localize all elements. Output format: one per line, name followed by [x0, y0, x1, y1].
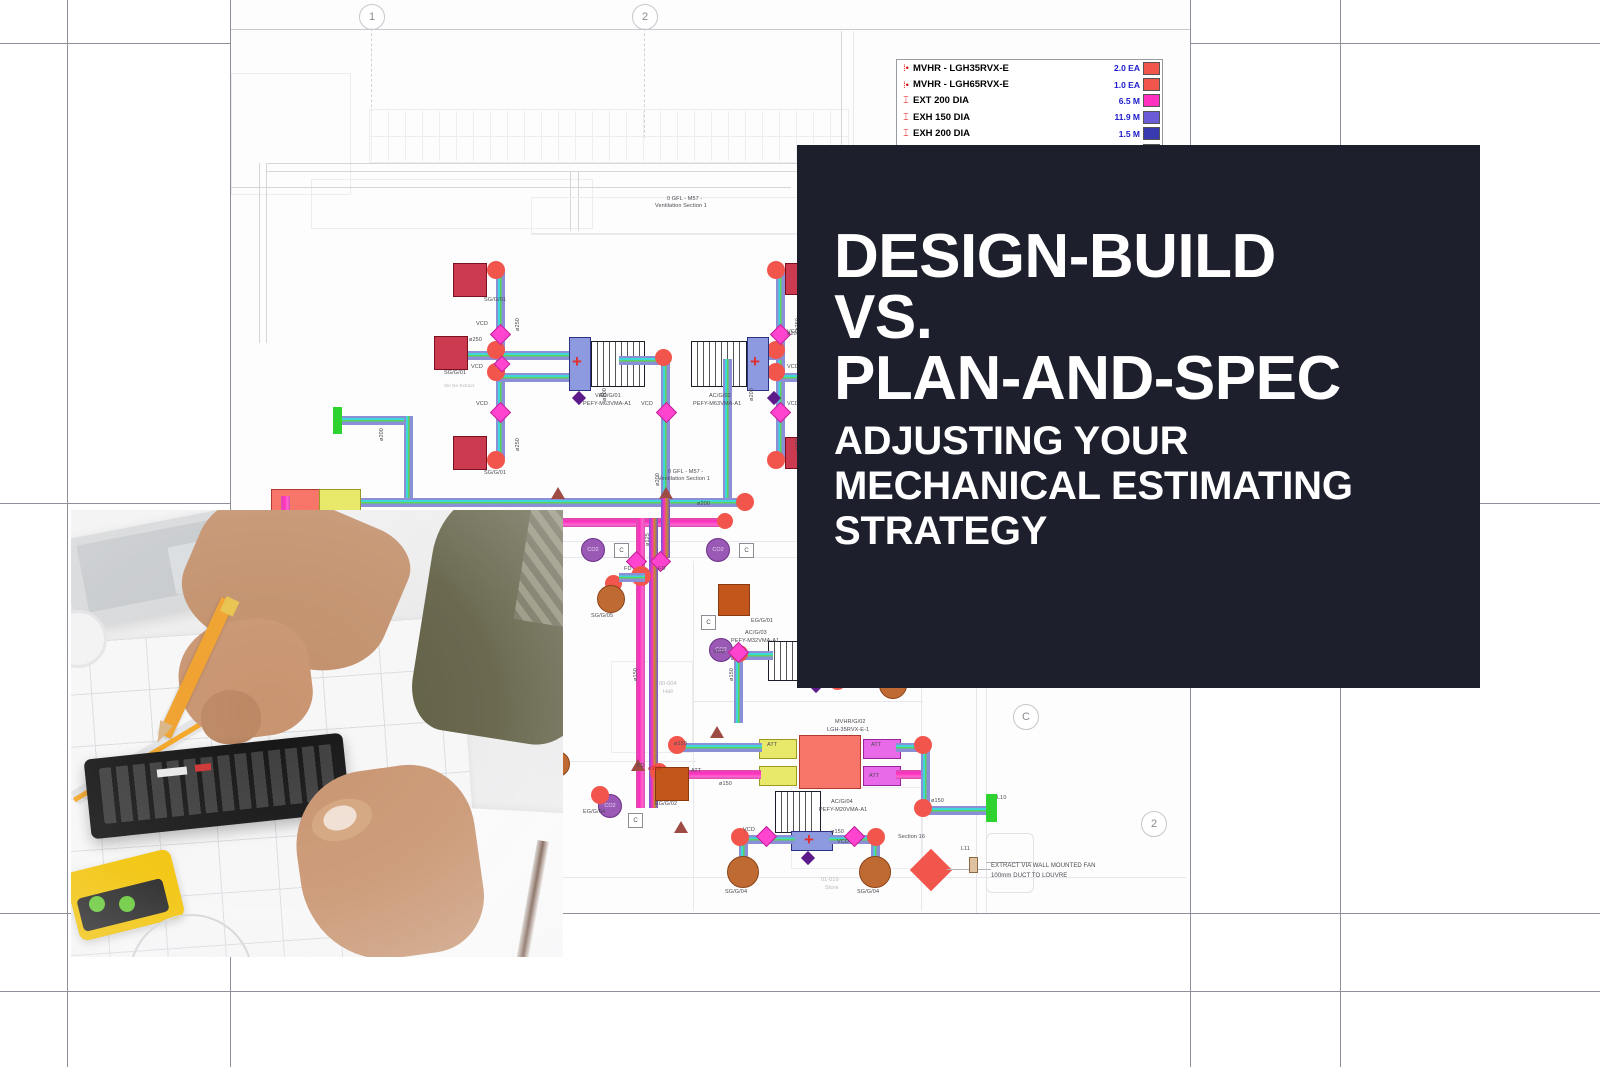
duct-riser [661, 356, 670, 506]
room-label: 01-019 [821, 877, 839, 884]
damper-label: VCD [471, 364, 483, 371]
damper-label: ATT [691, 768, 701, 775]
damper-label: FD [624, 566, 632, 573]
volume-control-damper [656, 402, 677, 423]
attenuator [759, 739, 797, 759]
legend-color-swatch [1143, 127, 1160, 140]
equipment-label: PEFY-M63VMA-A1 [693, 401, 741, 408]
damper-label: VCD [476, 321, 488, 328]
wall-line [266, 171, 846, 172]
duct-fitting [487, 451, 505, 469]
damper-label: ATT [869, 773, 879, 780]
equipment-label: EG/G/01 [751, 618, 773, 625]
stair-hatch [371, 111, 847, 161]
legend-item-name: MVHR - LGH35RVX-E [913, 63, 1114, 74]
equipment-label: AC/G/03 [745, 630, 767, 637]
duct-fitting [767, 261, 785, 279]
duct-fitting [767, 341, 785, 359]
legend-color-swatch [1143, 111, 1160, 124]
legend-color-swatch [1143, 78, 1160, 91]
damper-label: VCD [837, 839, 849, 846]
damper-label: FD [658, 566, 666, 573]
mvhr-node-icon: ⁞• [899, 80, 913, 90]
controller-box: C [739, 543, 754, 558]
damper-label: VCD [743, 827, 755, 834]
controller-box: C [628, 813, 643, 828]
duct-run-icon: ⌶ [899, 128, 913, 139]
duct-size-label: ø125 [645, 533, 652, 546]
duct-fitting [736, 493, 754, 511]
equipment-label: EG/G/04 [583, 809, 605, 816]
duct-fitting [767, 451, 785, 469]
ahu-plus-icon: + [804, 831, 814, 848]
section-marker-text: Ventilation Section 1 [655, 203, 707, 210]
equipment-label: LGH-35RVX-E-1 [827, 727, 869, 734]
grid-bubble-2: 2 [632, 4, 658, 30]
attenuator [759, 766, 797, 786]
room-label: Hall [663, 689, 673, 696]
duct-size-label: ø150 [719, 781, 732, 788]
wall-line [266, 163, 846, 164]
legend-item-qty: 2.0 EA [1114, 63, 1140, 73]
equipment-label: PEFY-M20VMA-A1 [819, 807, 867, 814]
wall-line [693, 561, 694, 911]
equipment-label: PEFY-M32VMA-A1 [731, 638, 779, 645]
legend-row[interactable]: ⌶ EXT 200 DIA 6.5 M [897, 93, 1162, 109]
co2-sensor: CO2 [581, 538, 605, 562]
photo-estimator-with-calculator [71, 510, 563, 957]
room-label: Store [825, 885, 839, 892]
duct-size-label: ø150 [633, 668, 640, 681]
duct-size-label: ø150 [831, 829, 844, 836]
legend-item-qty: 6.5 M [1119, 96, 1140, 106]
duct-riser [723, 359, 732, 507]
heat-exchanger-coil [691, 341, 747, 387]
grid-bubble-c: C [1013, 704, 1039, 730]
duct-size-label: ø200 [697, 501, 710, 508]
equipment-label: EG/G/02 [655, 801, 677, 808]
equipment-label: SG/G/01 [484, 470, 506, 477]
section-marker-text: 0 GFL - M57 - [668, 469, 703, 476]
extract-grille [718, 584, 750, 616]
section-marker-text: Section 16 [898, 834, 925, 841]
duct-branch [496, 373, 571, 382]
equipment-label: SG/G/01 [444, 370, 466, 377]
duct-size-label: ø200 [655, 473, 662, 486]
legend-item-qty: 1.0 EA [1114, 80, 1140, 90]
wall-line [693, 701, 923, 702]
duct-main-trunk [331, 498, 751, 507]
heading-line-2: VS. [834, 288, 1460, 349]
grid-bubble-2b: 2 [1141, 811, 1167, 837]
damper-label: ATT [871, 742, 881, 749]
arch-outline [231, 73, 351, 195]
heading-line-1: DESIGN-BUILD [834, 227, 1460, 288]
title-panel: DESIGN-BUILD VS. PLAN-AND-SPEC ADJUSTING… [797, 145, 1480, 688]
equipment-label: PEFY-M63VMA-A1 [583, 401, 631, 408]
subheading-line-1: ADJUSTING YOUR [834, 419, 1460, 464]
equipment-label: AC/G/02 [709, 393, 731, 400]
section-marker-text: 0 GFL - M57 - [667, 196, 702, 203]
fire-damper-marker [674, 821, 688, 833]
heading-line-3: PLAN-AND-SPEC [834, 349, 1460, 410]
legend-row[interactable]: ⁞• MVHR - LGH65RVX-E 1.0 EA [897, 76, 1162, 92]
room-label: 00-004 [659, 681, 677, 688]
mvhr-unit [799, 735, 861, 789]
equipment-label: L10 [997, 795, 1006, 802]
supply-grille [453, 436, 487, 470]
duct-fitting [767, 363, 785, 381]
duct-size-label: ø200 [379, 428, 386, 441]
supply-grille [453, 263, 487, 297]
louvre [333, 407, 342, 434]
duct-size-label: ø250 [515, 318, 522, 331]
duct-size-label: ø250 [515, 438, 522, 451]
duct-run-icon: ⌶ [899, 112, 913, 123]
damper-label: VCD [595, 393, 607, 400]
duct-branch [339, 416, 411, 425]
mvhr-node-icon: ⁞• [899, 63, 913, 73]
grid-line-vertical [67, 0, 68, 1067]
legend-color-swatch [1143, 94, 1160, 107]
co2-sensor: CO2 [706, 538, 730, 562]
duct-size-label: ø150 [931, 798, 944, 805]
fire-damper-marker [551, 487, 565, 499]
room-label: Sle De Extract [444, 383, 474, 389]
duct-run-icon: ⌶ [899, 95, 913, 106]
subheading-line-3: STRATEGY [834, 509, 1460, 554]
equipment-label: SG/G/01 [484, 297, 506, 304]
attenuator [319, 489, 361, 511]
legend-item-name: EXH 200 DIA [913, 128, 1119, 139]
ahu-plus-icon: + [750, 353, 760, 370]
legend-item-name: MVHR - LGH65RVX-E [913, 79, 1114, 90]
duct-size-label: ø250 [469, 337, 482, 344]
controller-box: C [614, 543, 629, 558]
duct-size-label: ø150 [729, 668, 736, 681]
duct-branch [496, 351, 571, 360]
legend-item-qty: 11.9 M [1114, 112, 1140, 122]
legend-item-name: EXT 200 DIA [913, 95, 1119, 106]
duct-fitting [914, 799, 932, 817]
drawing-note: EXTRACT VIA WALL MOUNTED FAN [991, 863, 1096, 871]
legend-row[interactable]: ⌶ EXH 150 DIA 11.9 M [897, 109, 1162, 125]
photo-vignette [71, 510, 563, 957]
equipment-label: L11 [961, 846, 970, 853]
wall-fan [969, 857, 978, 873]
legend-row[interactable]: ⌶ EXH 200 DIA 1.5 M [897, 126, 1162, 142]
heat-exchanger-coil [775, 791, 821, 833]
ahu-plus-icon: + [572, 353, 582, 370]
wall-line [231, 187, 791, 188]
duct-fitting [914, 736, 932, 754]
duct-fitting [717, 513, 733, 529]
louvre [986, 794, 997, 822]
supply-grille-round [597, 585, 625, 613]
equipment-label: MVHR/G/02 [835, 719, 866, 726]
equipment-label: SG/G/04 [857, 889, 879, 896]
supply-grille-round [859, 856, 891, 888]
legend-item-qty: 1.5 M [1119, 129, 1140, 139]
damper-label: VCD [641, 401, 653, 408]
damper-label: FD [637, 763, 645, 770]
legend-row[interactable]: ⁞• MVHR - LGH35RVX-E 2.0 EA [897, 60, 1162, 76]
duct-size-label: ø150 [648, 766, 661, 773]
legend-item-name: EXH 150 DIA [913, 112, 1114, 123]
duct-fitting [487, 261, 505, 279]
duct-fitting [867, 828, 885, 846]
grid-line-horizontal [0, 991, 1600, 992]
controller-box: C [701, 615, 716, 630]
supply-grille [434, 336, 468, 370]
extract-branch [896, 770, 924, 779]
duct-size-label: ø200 [749, 388, 756, 401]
fire-damper-marker [710, 726, 724, 738]
volume-control-damper [490, 402, 511, 423]
duct-riser [661, 498, 670, 558]
duct-branch [619, 573, 645, 582]
duct-fitting [591, 786, 609, 804]
equipment-label: SG/G/05 [591, 613, 613, 620]
damper-label: VCD [476, 401, 488, 408]
subheading-line-2: MECHANICAL ESTIMATING [834, 464, 1460, 509]
mvhr-unit [271, 489, 321, 511]
equipment-label: AC/G/04 [831, 799, 853, 806]
grid-bubble-1: 1 [359, 4, 385, 30]
wall-line [259, 163, 260, 343]
legend-color-swatch [1143, 62, 1160, 75]
equipment-label: SG/G/04 [725, 889, 747, 896]
wall-line [266, 163, 267, 343]
section-marker-text: Ventilation Section 1 [658, 476, 710, 483]
duct-riser [404, 416, 413, 506]
duct-fitting [655, 349, 672, 366]
damper-label: VCD [713, 649, 725, 656]
duct-size-label: ø150 [674, 741, 687, 748]
duct-branch [674, 743, 762, 752]
damper-label: ATT [767, 742, 777, 749]
drawing-note: 100mm DUCT TO LOUVRE [991, 873, 1067, 881]
supply-grille-round [727, 856, 759, 888]
